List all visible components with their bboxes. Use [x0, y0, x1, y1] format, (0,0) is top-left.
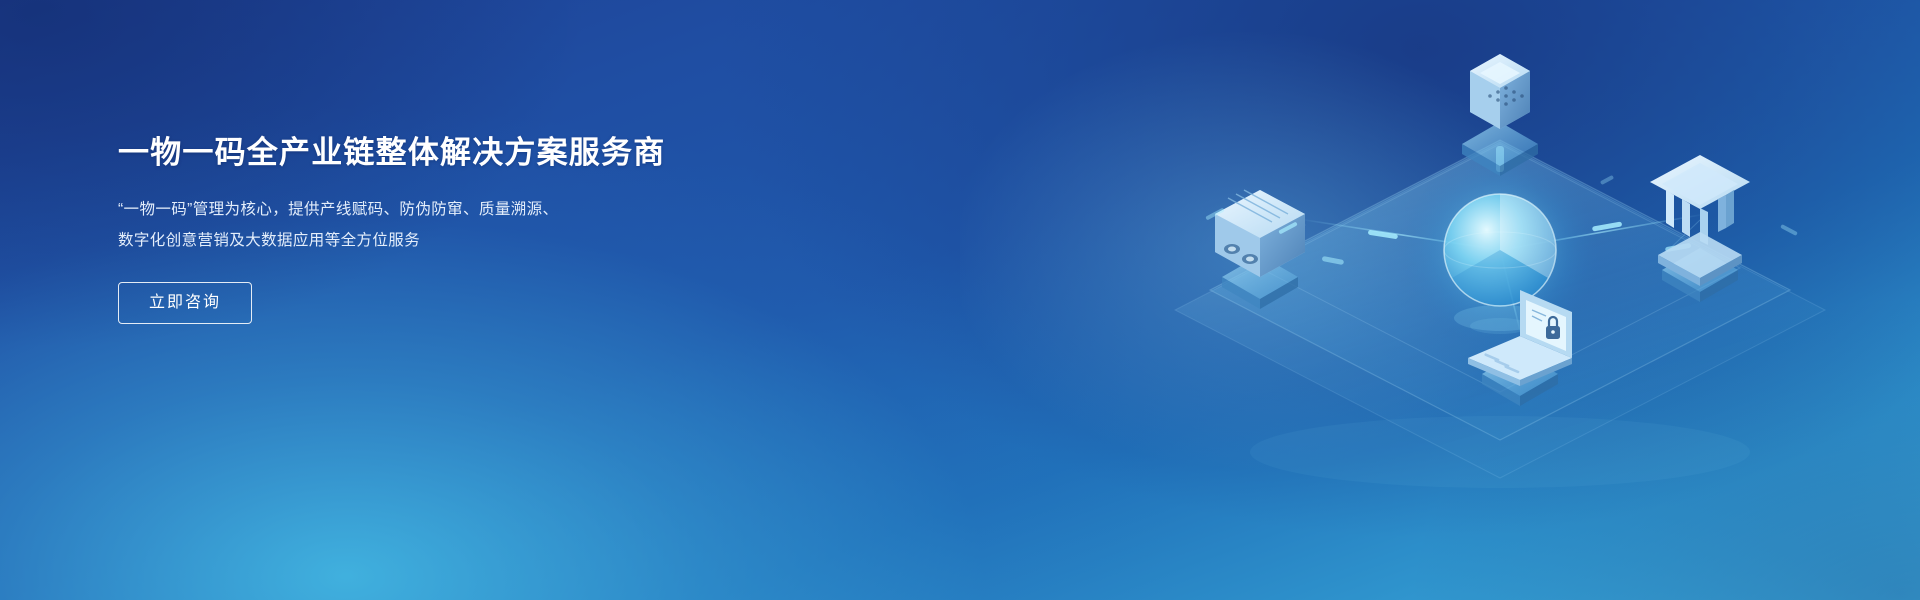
hero-subtitle-line-2: 数字化创意营销及大数据应用等全方位服务 — [118, 225, 758, 256]
consult-now-button[interactable]: 立即咨询 — [118, 282, 252, 324]
hero-subtitle-line-1: “一物一码”管理为核心，提供产线赋码、防伪防窜、质量溯源、 — [118, 194, 758, 225]
hero-copy: 一物一码全产业链整体解决方案服务商 “一物一码”管理为核心，提供产线赋码、防伪防… — [118, 134, 758, 324]
page-title: 一物一码全产业链整体解决方案服务商 — [118, 134, 758, 173]
hero-illustration — [960, 0, 1920, 600]
hero-banner: 一物一码全产业链整体解决方案服务商 “一物一码”管理为核心，提供产线赋码、防伪防… — [0, 0, 1920, 600]
hero-subtitle: “一物一码”管理为核心，提供产线赋码、防伪防窜、质量溯源、 数字化创意营销及大数… — [118, 194, 758, 256]
